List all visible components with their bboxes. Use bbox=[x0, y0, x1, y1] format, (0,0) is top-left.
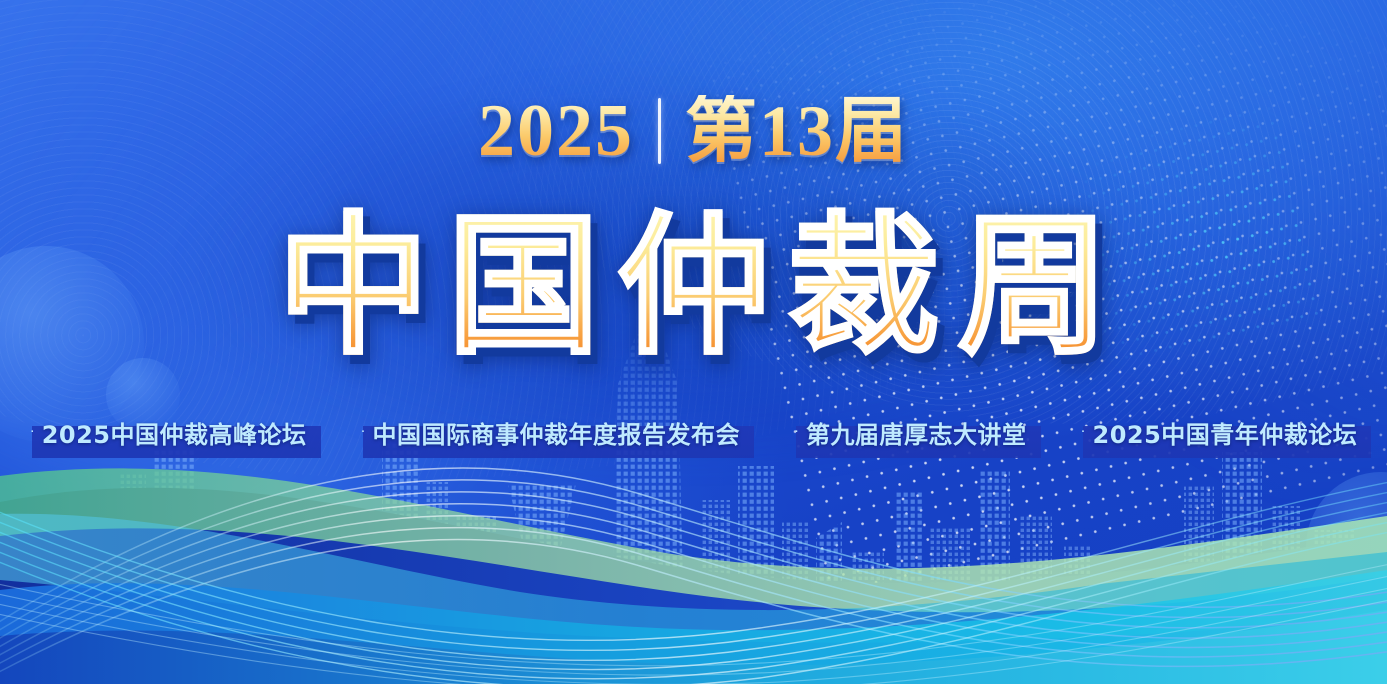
bullet-icon: · bbox=[794, 423, 799, 438]
list-item[interactable]: · 第九届唐厚志大讲堂 bbox=[780, 406, 1041, 458]
spacer bbox=[321, 432, 347, 433]
banner-content: 2025 第13届 中国仲裁周 · 2025中国仲裁高峰论坛 · 中国国际商事仲… bbox=[0, 0, 1387, 684]
bullet-icon: · bbox=[361, 423, 366, 438]
list-item[interactable]: · 2025中国青年仲裁论坛 bbox=[1067, 406, 1372, 458]
spacer bbox=[1041, 432, 1067, 433]
list-item-label: 2025中国仲裁高峰论坛 bbox=[42, 415, 307, 450]
bullet-icon: · bbox=[1081, 423, 1086, 438]
list-item-label: 第九届唐厚志大讲堂 bbox=[806, 415, 1027, 450]
title-text: 中国仲裁周 bbox=[260, 211, 1128, 363]
list-item-label: 2025中国青年仲裁论坛 bbox=[1093, 415, 1358, 450]
list-item[interactable]: · 中国国际商事仲裁年度报告发布会 bbox=[347, 406, 755, 458]
list-item-label: 中国国际商事仲裁年度报告发布会 bbox=[373, 415, 741, 450]
event-list: · 2025中国仲裁高峰论坛 · 中国国际商事仲裁年度报告发布会 · 第九届唐厚… bbox=[0, 406, 1387, 458]
vertical-divider-icon bbox=[658, 98, 661, 164]
page-title: 中国仲裁周 bbox=[0, 192, 1387, 382]
edition-label: 第13届 bbox=[685, 95, 909, 167]
arbitration-week-banner: 2025 第13届 中国仲裁周 · 2025中国仲裁高峰论坛 · 中国国际商事仲… bbox=[0, 0, 1387, 684]
list-item[interactable]: · 2025中国仲裁高峰论坛 bbox=[16, 406, 321, 458]
eyebrow-row: 2025 第13届 bbox=[0, 86, 1387, 176]
bullet-icon: · bbox=[30, 423, 35, 438]
spacer bbox=[754, 432, 780, 433]
year-label: 2025 bbox=[478, 94, 634, 168]
